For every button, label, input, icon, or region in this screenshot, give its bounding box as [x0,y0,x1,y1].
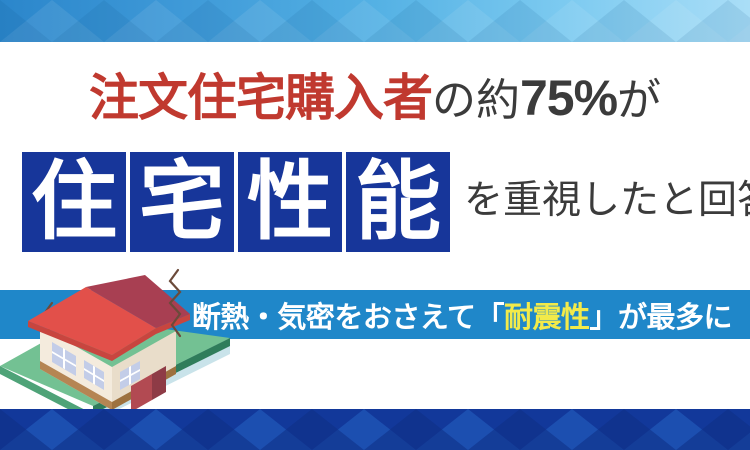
isometric-house-illustration [0,262,230,422]
bottom-banner-pattern-svg [0,409,750,450]
boxline-tail-text: を重視したと回答。 [464,181,750,224]
headline: 注文住宅購入者の約75%が [0,73,750,123]
kanji-box-1: 住 [22,152,126,252]
boxed-emphasis-line: 住 宅 性 能 を重視したと回答。 [22,152,732,252]
headline-light-text-2: が [617,76,661,125]
infographic-canvas: 注文住宅購入者の約75%が 住 宅 性 能 を重視したと回答。 断熱・気密をおさ… [0,0,750,450]
top-triangle-banner [0,0,750,42]
bottom-triangle-banner [0,409,750,450]
kanji-box-3: 性 [238,152,342,252]
kanji-box-4: 能 [346,152,450,252]
subheading-highlight: 耐震性 [504,294,590,336]
kanji-box-group: 住 宅 性 能 [22,152,450,252]
headline-percent-value: 75% [520,70,617,126]
house-svg [0,262,230,422]
kanji-box-2: 宅 [130,152,234,252]
subheading-text-after: 」が最多に [589,294,732,336]
headline-light-text-1: の約 [432,76,520,125]
top-banner-pattern-svg [0,0,750,42]
subheading-text-before: 断熱・気密をおさえて「 [192,294,504,336]
headline-red-text: 注文住宅購入者 [89,70,432,126]
